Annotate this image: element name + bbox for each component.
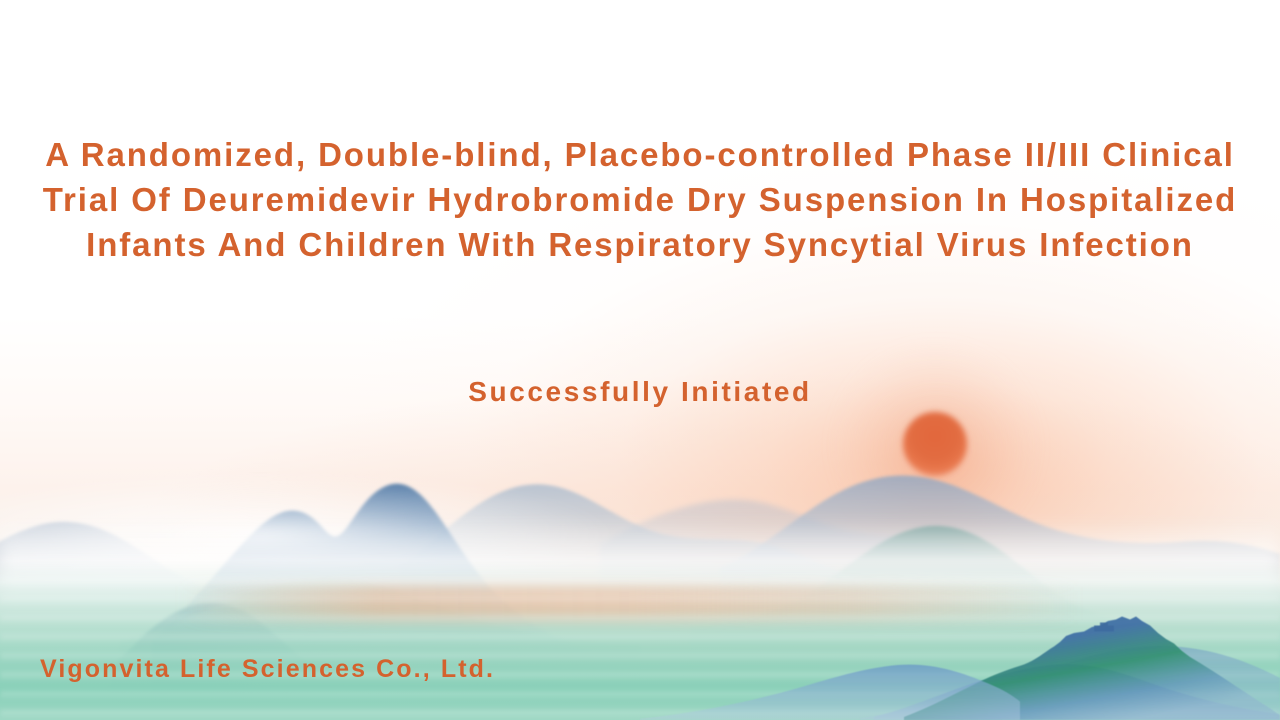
status-subtitle: Successfully Initiated	[0, 372, 1280, 412]
text-content: A Randomized, Double-blind, Placebo-cont…	[0, 0, 1280, 720]
company-name: Vigonvita Life Sciences Co., Ltd.	[40, 652, 495, 686]
announcement-slide: A Randomized, Double-blind, Placebo-cont…	[0, 0, 1280, 720]
page-title: A Randomized, Double-blind, Placebo-cont…	[8, 132, 1272, 267]
